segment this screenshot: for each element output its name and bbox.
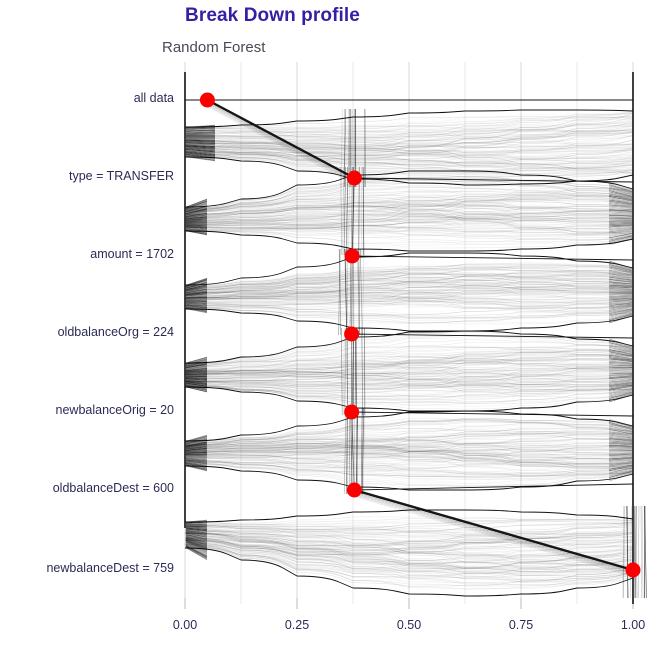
y-axis-label-row: oldbalanceOrg = 224	[0, 326, 174, 339]
y-axis-label-row: oldbalanceDest = 600	[0, 482, 174, 495]
x-axis-tick-label: 0.00	[173, 618, 197, 632]
profile-point	[345, 249, 360, 264]
y-axis-label: newbalanceDest = 759	[0, 562, 174, 575]
x-axis-tick-label: 0.25	[285, 618, 309, 632]
y-axis-label: type = TRANSFER	[0, 170, 174, 183]
y-axis-label-row: type = TRANSFER	[0, 170, 174, 183]
y-axis-label-row: amount = 1702	[0, 248, 174, 261]
y-axis-label: all data	[0, 92, 174, 105]
y-axis-label-row: newbalanceOrig = 20	[0, 404, 174, 417]
profile-point	[626, 563, 641, 578]
profile-point	[347, 483, 362, 498]
x-axis-tick-label: 0.50	[397, 618, 421, 632]
profile-ribbons-group	[185, 100, 647, 598]
y-axis-label: oldbalanceOrg = 224	[0, 326, 174, 339]
y-axis-label: newbalanceOrig = 20	[0, 404, 174, 417]
y-axis-label: oldbalanceDest = 600	[0, 482, 174, 495]
x-axis-tick-label: 1.00	[621, 618, 645, 632]
y-axis-label: amount = 1702	[0, 248, 174, 261]
profile-point	[200, 93, 215, 108]
profile-point	[344, 405, 359, 420]
breakdown-profile-plot: Break Down profile Random Forest all dat…	[0, 0, 664, 664]
profile-point	[347, 171, 362, 186]
x-axis-tick-label: 0.75	[509, 618, 533, 632]
y-axis-label-row: newbalanceDest = 759	[0, 562, 174, 575]
profile-point	[344, 327, 359, 342]
y-axis-label-row: all data	[0, 92, 174, 105]
